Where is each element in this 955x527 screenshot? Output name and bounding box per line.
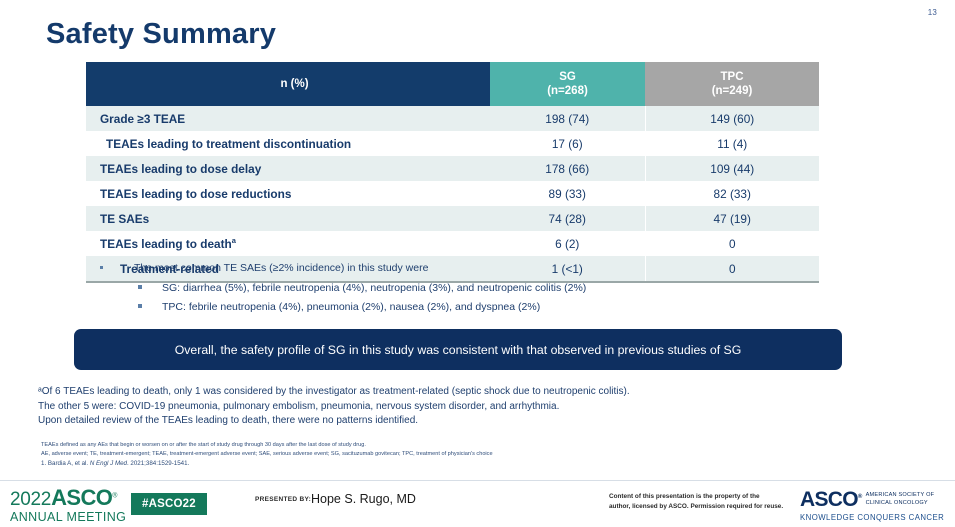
- slide-footer: 2022ASCO® ANNUAL MEETING #ASCO22 PRESENT…: [0, 481, 955, 527]
- table-header-row: n (%) SG (n=268) TPC (n=249): [86, 62, 819, 106]
- citation-number: 1. Bardia A, et al.: [41, 460, 90, 467]
- column-header-sg-name: SG: [559, 71, 576, 83]
- table-row: Grade ≥3 TEAE198 (74)149 (60): [86, 106, 819, 131]
- asco-logo-year: 2022: [10, 489, 51, 510]
- cell-tpc-value: 47 (19): [645, 206, 819, 231]
- footnote-line-2: The other 5 were: COVID-19 pneumonia, pu…: [38, 400, 858, 415]
- fineprint-definition: TEAEs defined as any AEs that begin or w…: [41, 441, 841, 450]
- bullet-sub-sg-text: SG: diarrhea (5%), febrile neutropenia (…: [162, 282, 586, 294]
- table-header: n (%) SG (n=268) TPC (n=249): [86, 62, 819, 106]
- hashtag-badge: #ASCO22: [131, 493, 207, 515]
- cell-sg-value: 17 (6): [490, 131, 645, 156]
- asco-logo-brand: ASCO: [51, 485, 112, 510]
- column-header-sg-n: (n=268): [491, 84, 644, 98]
- bullet-sub-tpc-text: TPC: febrile neutropenia (4%), pneumonia…: [162, 301, 540, 313]
- bullet-square-icon: [138, 285, 142, 289]
- table-row: TEAEs leading to dose reductions89 (33)8…: [86, 181, 819, 206]
- bullet-square-icon: [138, 304, 142, 308]
- bullet-lead-text: The most common TE SAEs (≥2% incidence) …: [134, 262, 428, 274]
- rights-line-1: Content of this presentation is the prop…: [609, 492, 783, 502]
- cell-tpc-value: 109 (44): [645, 156, 819, 181]
- cell-tpc-value: 0: [645, 231, 819, 256]
- asco-society-logo: ASCO®AMERICAN SOCIETY OFCLINICAL ONCOLOG…: [800, 489, 944, 522]
- presented-by-label: PRESENTED BY:: [255, 496, 311, 503]
- footnotes: ᵃOf 6 TEAEs leading to death, only 1 was…: [38, 385, 858, 429]
- asco-society-name-line2: CLINICAL ONCOLOGY: [866, 500, 935, 508]
- bullet-sub-sg: SG: diarrhea (5%), febrile neutropenia (…: [92, 282, 852, 295]
- citation-rest: . 2021;384:1529-1541.: [127, 460, 189, 467]
- column-header-tpc-name: TPC: [721, 71, 744, 83]
- row-label: TEAEs leading to treatment discontinuati…: [86, 131, 490, 156]
- fineprint-citation: 1. Bardia A, et al. N Engl J Med. 2021;3…: [41, 459, 841, 469]
- fineprint: TEAEs defined as any AEs that begin or w…: [41, 441, 841, 469]
- bullet-lead: The most common TE SAEs (≥2% incidence) …: [92, 262, 852, 275]
- row-label: TE SAEs: [86, 206, 490, 231]
- asco-annual-meeting-logo: 2022ASCO® ANNUAL MEETING: [10, 487, 126, 524]
- citation-journal: N Engl J Med: [90, 460, 127, 467]
- asco-logo-subtitle: ANNUAL MEETING: [10, 511, 126, 524]
- cell-sg-value: 74 (28): [490, 206, 645, 231]
- footnote-line-1: ᵃOf 6 TEAEs leading to death, only 1 was…: [38, 385, 858, 400]
- cell-sg-value: 198 (74): [490, 106, 645, 131]
- table-row: TEAEs leading to treatment discontinuati…: [86, 131, 819, 156]
- cell-sg-value: 89 (33): [490, 181, 645, 206]
- cell-tpc-value: 82 (33): [645, 181, 819, 206]
- asco-society-name-line1: AMERICAN SOCIETY OF: [866, 492, 935, 500]
- cell-tpc-value: 11 (4): [645, 131, 819, 156]
- column-header-tpc: TPC (n=249): [645, 62, 819, 106]
- asco-logo-line1: 2022ASCO®: [10, 487, 126, 509]
- column-header-sg: SG (n=268): [490, 62, 645, 106]
- cell-sg-value: 178 (66): [490, 156, 645, 181]
- asco-society-brand-text: ASCO: [800, 488, 858, 511]
- rights-statement: Content of this presentation is the prop…: [609, 492, 783, 512]
- row-label: TEAEs leading to dose delay: [86, 156, 490, 181]
- table-row: TE SAEs74 (28)47 (19): [86, 206, 819, 231]
- conclusion-text: Overall, the safety profile of SG in thi…: [175, 343, 742, 357]
- safety-table: n (%) SG (n=268) TPC (n=249) Grade ≥3 TE…: [86, 62, 819, 281]
- registered-trademark-icon: ®: [858, 494, 862, 500]
- bullet-list: The most common TE SAEs (≥2% incidence) …: [92, 262, 852, 321]
- rights-line-2: author, licensed by ASCO. Permission req…: [609, 502, 783, 512]
- table-row: TEAEs leading to dose delay178 (66)109 (…: [86, 156, 819, 181]
- asco-tagline: KNOWLEDGE CONQUERS CANCER: [800, 513, 944, 522]
- footnote-line-3: Upon detailed review of the TEAEs leadin…: [38, 414, 858, 429]
- row-label: TEAEs leading to deatha: [86, 231, 490, 256]
- table-body: Grade ≥3 TEAE198 (74)149 (60)TEAEs leadi…: [86, 106, 819, 281]
- page-title: Safety Summary: [46, 18, 276, 51]
- asco-society-brand: ASCO®: [800, 489, 862, 510]
- slide-number: 13: [928, 8, 937, 17]
- registered-trademark-icon: ®: [112, 493, 117, 500]
- presenter-name: Hope S. Rugo, MD: [311, 492, 416, 506]
- bullet-dot-icon: [100, 266, 103, 269]
- safety-table-container: n (%) SG (n=268) TPC (n=249) Grade ≥3 TE…: [86, 62, 819, 283]
- column-header-tpc-n: (n=249): [646, 84, 818, 98]
- table-row: TEAEs leading to deatha6 (2)0: [86, 231, 819, 256]
- footnote-marker: a: [232, 236, 236, 245]
- row-label: TEAEs leading to dose reductions: [86, 181, 490, 206]
- conclusion-banner: Overall, the safety profile of SG in thi…: [74, 329, 842, 370]
- cell-sg-value: 6 (2): [490, 231, 645, 256]
- column-header-label: n (%): [86, 62, 490, 106]
- fineprint-abbreviations: AE, adverse event; TE, treatment-emergen…: [41, 450, 841, 459]
- cell-tpc-value: 149 (60): [645, 106, 819, 131]
- row-label: Grade ≥3 TEAE: [86, 106, 490, 131]
- bullet-sub-tpc: TPC: febrile neutropenia (4%), pneumonia…: [92, 301, 852, 314]
- asco-society-name: AMERICAN SOCIETY OFCLINICAL ONCOLOGY: [866, 492, 935, 507]
